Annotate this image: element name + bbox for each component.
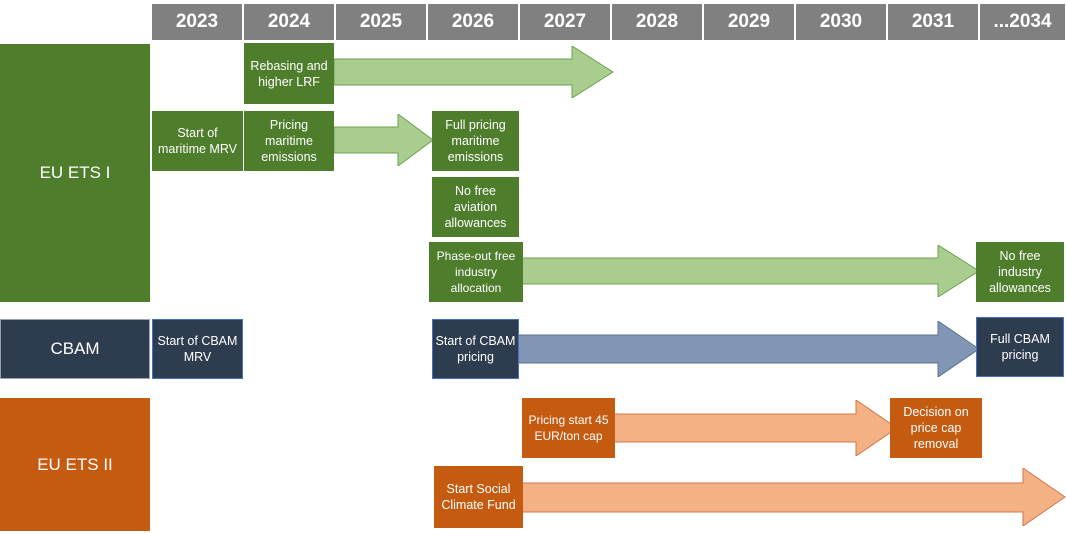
year-header-2029: 2029 [703, 3, 795, 41]
timeline-canvas: 2023 2024 2025 2026 2027 2028 2029 2030 … [0, 0, 1066, 534]
category-label-eu-ets-1: EU ETS I [0, 44, 150, 302]
milestone-full-cbam-pricing: Full CBAM pricing [976, 317, 1064, 377]
milestone-no-free-aviation-allowances: No free aviation allowances [432, 177, 519, 237]
milestone-no-free-industry-allowances: No free industry allowances [976, 242, 1064, 302]
year-header-2023: 2023 [151, 3, 243, 41]
year-header-2026: 2026 [427, 3, 519, 41]
milestone-phase-out-free-industry-allocation: Phase-out free industry allocation [429, 242, 523, 302]
milestone-start-of-cbam-pricing: Start of CBAM pricing [432, 319, 519, 379]
arrow-rebasing-lrf [334, 46, 614, 98]
milestone-rebasing-and-higher-lrf: Rebasing and higher LRF [244, 43, 334, 104]
year-header-2031: 2031 [887, 3, 979, 41]
milestone-pricing-maritime-emissions: Pricing maritime emissions [244, 111, 334, 171]
milestone-full-pricing-maritime-emissions: Full pricing maritime emissions [432, 111, 519, 171]
year-header-2030: 2030 [795, 3, 887, 41]
year-header-2024: 2024 [243, 3, 335, 41]
arrow-social-climate-fund [519, 468, 1066, 526]
year-header-2027: 2027 [519, 3, 611, 41]
arrow-price-cap-period [613, 400, 898, 456]
year-header-2034: ...2034 [979, 3, 1066, 41]
milestone-pricing-start-price-cap: Pricing start 45 EUR/ton cap [522, 398, 615, 458]
milestone-decision-on-price-cap-removal: Decision on price cap removal [890, 398, 982, 458]
milestone-start-of-cbam-mrv: Start of CBAM MRV [152, 319, 243, 379]
year-header-2025: 2025 [335, 3, 427, 41]
milestone-start-social-climate-fund: Start Social Climate Fund [434, 466, 523, 528]
arrow-cbam-pricing-ramp [517, 321, 980, 377]
milestone-start-of-maritime-mrv: Start of maritime MRV [152, 111, 243, 171]
category-label-cbam: CBAM [0, 319, 150, 379]
year-header-2028: 2028 [611, 3, 703, 41]
category-label-eu-ets-2: EU ETS II [0, 398, 150, 531]
arrow-pricing-maritime-emissions [334, 114, 434, 166]
arrow-phase-out-free-industry-allocation [517, 245, 980, 297]
